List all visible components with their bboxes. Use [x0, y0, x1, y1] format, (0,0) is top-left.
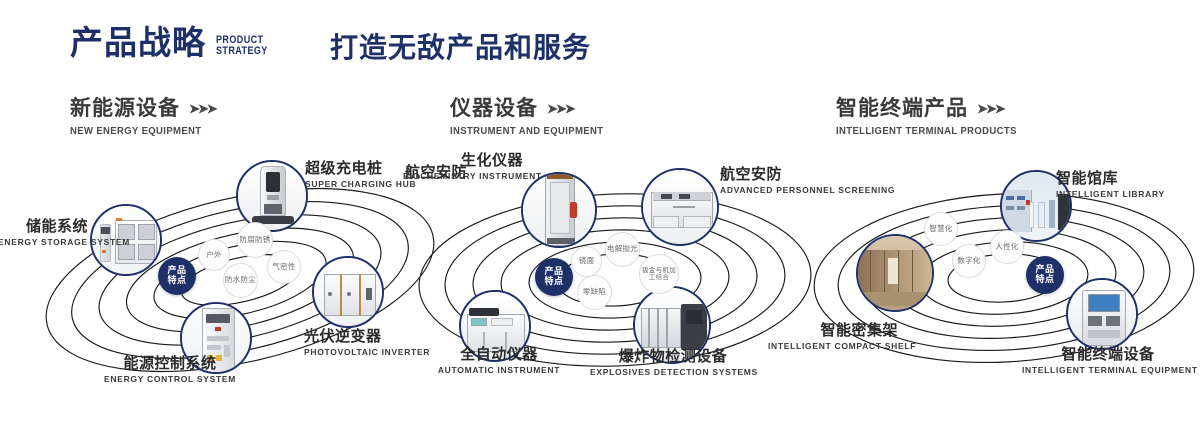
- label-intelligent-library: 智能馆库 INTELLIGENT LIBRARY: [1056, 170, 1165, 199]
- page-slogan: 打造无敌产品和服务: [330, 34, 591, 62]
- label-cn: 全自动仪器: [409, 346, 589, 363]
- section-title-en: NEW ENERGY EQUIPMENT: [70, 126, 208, 137]
- section-heading-new-energy: 新能源设备 ➤➤➤ NEW ENERGY EQUIPMENT: [70, 98, 216, 137]
- cluster-new-energy: 储能系统 ENERGY STORAGE SYSTEM 超级充电桩 SUPER C…: [40, 150, 440, 390]
- node-advanced-personnel-screening[interactable]: [641, 168, 719, 246]
- label-en: EXPLOSIVES DETECTION SYSTEMS: [590, 367, 756, 378]
- feature-bubble-waterproof: 防水防尘: [223, 263, 258, 298]
- label-cn: 能源控制系统: [80, 355, 260, 372]
- section-title-cn: 智能终端产品: [836, 98, 968, 119]
- core-line-2: 特点: [1035, 275, 1054, 285]
- page-title: 产品战略 PRODUCT STRATEGY: [70, 26, 279, 59]
- core-line-2: 特点: [544, 277, 563, 287]
- label-biochemistry-instrument: 生化仪器 BIOCHEMISTRY INSTRUMENT: [403, 152, 523, 181]
- feature-bubble-airtight: 气密性: [267, 250, 301, 284]
- label-energy-control-system: 能源控制系统 ENERGY CONTROL SYSTEM: [80, 355, 260, 384]
- page-title-en-line2: STRATEGY: [216, 46, 268, 57]
- section-heading-intelligent-terminal: 智能终端产品 ➤➤➤ INTELLIGENT TERMINAL PRODUCTS: [836, 98, 1026, 137]
- chevron-right-icon: ➤➤➤: [547, 102, 574, 115]
- node-intelligent-compact-shelf[interactable]: [856, 234, 934, 312]
- label-en: BIOCHEMISTRY INSTRUMENT: [403, 171, 523, 182]
- section-heading-instrument: 仪器设备 ➤➤➤ INSTRUMENT AND EQUIPMENT: [450, 98, 611, 137]
- cluster-intelligent-terminal: 智能馆库 INTELLIGENT LIBRARY 智能终端设备 INTELLIG…: [808, 150, 1200, 390]
- label-intelligent-compact-shelf: 智能密集架 INTELLIGENT COMPACT SHELF: [768, 322, 898, 351]
- chevron-right-icon: ➤➤➤: [977, 102, 1004, 115]
- chevron-right-icon: ➤➤➤: [189, 102, 216, 115]
- label-cn: 智能密集架: [768, 322, 898, 339]
- core-bubble-product-features: 产品 特点: [158, 257, 196, 295]
- feature-bubble-humanized: 人性化: [990, 230, 1024, 264]
- label-automatic-instrument: 全自动仪器 AUTOMATIC INSTRUMENT: [409, 346, 589, 375]
- label-en: INTELLIGENT COMPACT SHELF: [768, 341, 898, 352]
- label-cn: 智能终端设备: [1022, 346, 1194, 363]
- core-line-2: 特点: [167, 276, 186, 286]
- cluster-instrument: 航空安防 生化仪器 BIOCHEMISTRY INSTRUMENT: [415, 150, 815, 390]
- label-cn: 爆炸物检测设备: [590, 348, 756, 365]
- section-title-cn: 新能源设备: [70, 98, 180, 119]
- page-title-en: PRODUCT STRATEGY: [216, 35, 268, 57]
- section-title-en: INSTRUMENT AND EQUIPMENT: [450, 126, 603, 137]
- label-cn: 智能馆库: [1056, 170, 1165, 187]
- label-super-charging-hub: 超级充电桩 SUPER CHARGING HUB: [305, 160, 416, 189]
- node-super-charging-hub[interactable]: [236, 160, 308, 232]
- label-energy-storage-system: 储能系统 ENERGY STORAGE SYSTEM: [0, 218, 88, 247]
- section-title-cn: 仪器设备: [450, 98, 538, 119]
- node-biochemistry-instrument[interactable]: [521, 172, 597, 248]
- node-photovoltaic-inverter[interactable]: [312, 256, 384, 328]
- core-bubble-product-features: 产品 特点: [1026, 256, 1064, 294]
- label-cn: 储能系统: [0, 218, 88, 235]
- feature-bubble-mirror: 镜面: [571, 246, 602, 277]
- section-title-en: INTELLIGENT TERMINAL PRODUCTS: [836, 126, 1017, 137]
- label-intelligent-terminal-equipment: 智能终端设备 INTELLIGENT TERMINAL EQUIPMENT: [1022, 346, 1194, 375]
- feature-bubble-zero-defect: 零缺陷: [577, 275, 612, 310]
- label-en: ENERGY STORAGE SYSTEM: [0, 237, 88, 248]
- feature-bubble-electropolishing: 电解抛光: [605, 232, 640, 267]
- label-en: SUPER CHARGING HUB: [305, 179, 416, 190]
- feature-bubble-anticorrosion: 防腐防锈: [237, 222, 273, 258]
- feature-bubble-digitalized: 数字化: [952, 244, 986, 278]
- core-line-1: 产品: [544, 267, 563, 277]
- label-en: INTELLIGENT LIBRARY: [1056, 189, 1165, 200]
- label-cn: 生化仪器: [403, 152, 523, 169]
- core-line-1: 产品: [167, 266, 186, 276]
- core-line-1: 产品: [1035, 265, 1054, 275]
- label-cn: 光伏逆变器: [304, 328, 430, 345]
- product-strategy-infographic: 产品战略 PRODUCT STRATEGY 打造无敌产品和服务 新能源设备 ➤➤…: [0, 0, 1200, 422]
- label-en: INTELLIGENT TERMINAL EQUIPMENT: [1022, 365, 1194, 376]
- label-en: AUTOMATIC INSTRUMENT: [409, 365, 589, 376]
- page-title-cn: 产品战略: [70, 26, 206, 59]
- feature-bubble-sheetmetal-machining: 钣金与机加工结合: [639, 254, 679, 294]
- label-explosives-detection-systems: 爆炸物检测设备 EXPLOSIVES DETECTION SYSTEMS: [590, 348, 756, 377]
- feature-bubble-outdoor: 户外: [198, 239, 230, 271]
- node-intelligent-terminal-equipment[interactable]: [1066, 278, 1138, 350]
- label-cn: 超级充电桩: [305, 160, 416, 177]
- feature-bubble-intelligent: 智慧化: [924, 212, 958, 246]
- label-en: ENERGY CONTROL SYSTEM: [80, 374, 260, 385]
- core-bubble-product-features: 产品 特点: [535, 258, 573, 296]
